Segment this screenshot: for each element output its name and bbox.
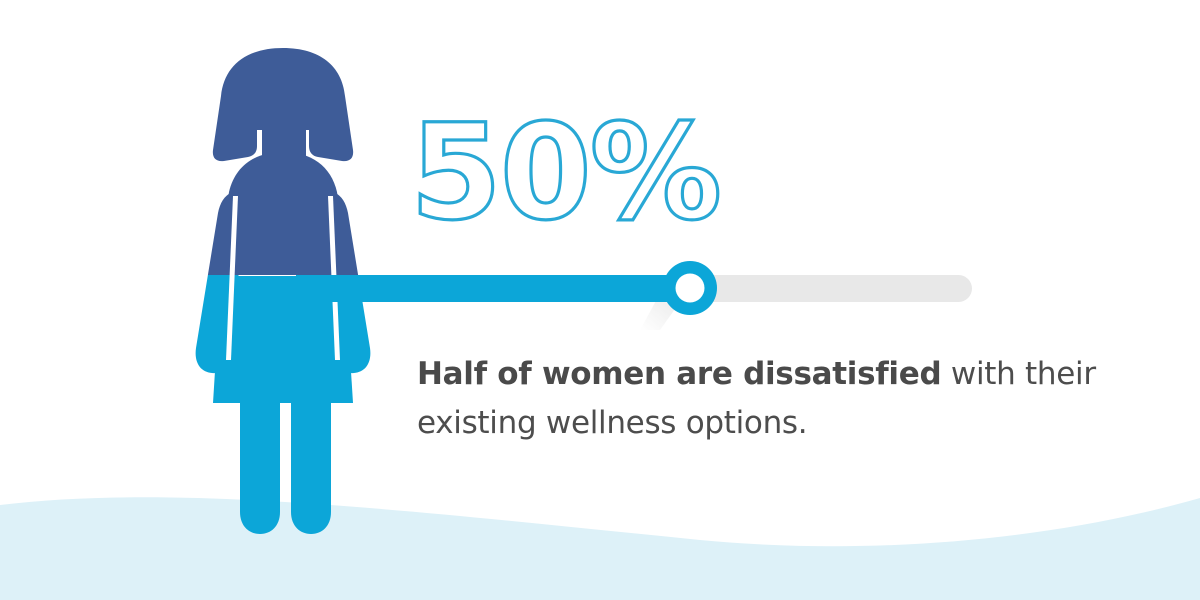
stat-percent-value: 50%	[410, 96, 720, 250]
caption-lead: Half of women are dissatisfied	[417, 356, 941, 392]
infographic-canvas: 50% Half of women are dissatisfied with …	[0, 0, 1200, 600]
slider-track-remaining[interactable]	[690, 275, 972, 302]
caption-text: Half of women are dissatisfied with thei…	[417, 350, 1117, 448]
stat-percent: 50%	[405, 104, 725, 244]
stat-percent-outline-icon: 50%	[405, 104, 725, 244]
slider-track-fill[interactable]	[296, 275, 696, 302]
satisfaction-slider[interactable]	[0, 0, 1200, 600]
slider-knob-center[interactable]	[676, 274, 705, 303]
